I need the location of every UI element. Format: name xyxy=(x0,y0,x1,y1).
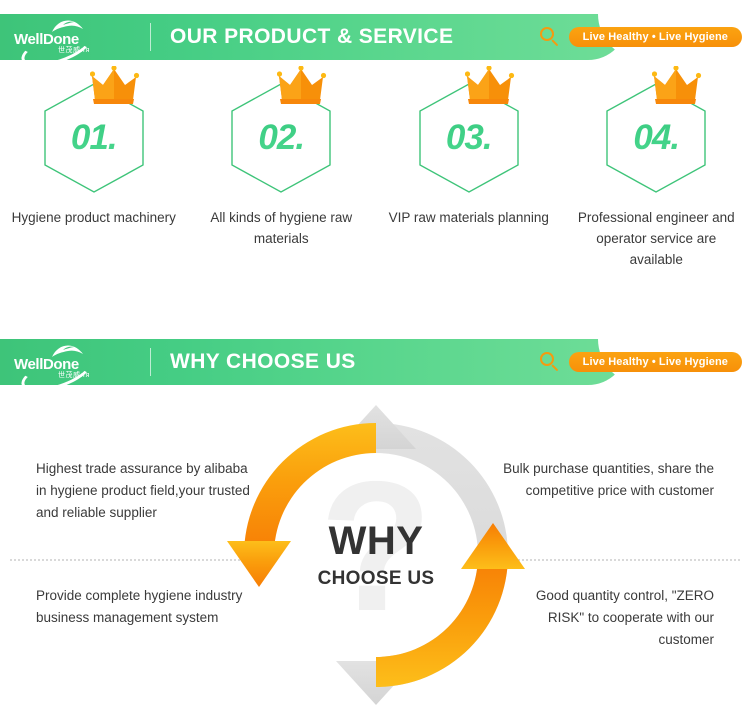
logo-wordmark-cn: 世茂威яя xyxy=(58,370,90,380)
tagline-badge-why: Live Healthy • Live Hygiene xyxy=(569,352,742,372)
why-point-top-left: Highest trade assurance by alibaba in hy… xyxy=(36,458,251,524)
circular-arrows-diagram: ? xyxy=(226,405,526,705)
feature-item: 01. Hygiene product machinery xyxy=(0,82,188,282)
section-title-why: WHY CHOOSE US xyxy=(170,339,356,385)
feature-caption: Professional engineer and operator servi… xyxy=(571,208,741,271)
why-point-bottom-right: Good quantity control, "ZERO RISK" to co… xyxy=(499,585,714,651)
feature-hexagon: 04. xyxy=(604,82,708,194)
search-icon[interactable] xyxy=(539,26,561,48)
feature-hexagon: 03. xyxy=(417,82,521,194)
search-icon-handle xyxy=(551,364,558,371)
feature-caption: VIP raw materials planning xyxy=(384,208,554,229)
section-header-why: WellDone 世茂威яя WHY CHOOSE US Live Health… xyxy=(0,339,750,385)
feature-hexagon: 02. xyxy=(229,82,333,194)
feature-item: 02. All kinds of hygiene raw materials xyxy=(188,82,376,282)
why-point-top-right: Bulk purchase quantities, share the comp… xyxy=(499,458,714,502)
section-header-product: WellDone 世茂威яя OUR PRODUCT & SERVICE Liv… xyxy=(0,14,750,60)
feature-hexagon: 01. xyxy=(42,82,146,194)
search-icon-handle xyxy=(551,39,558,46)
page-root: WellDone 世茂威яя OUR PRODUCT & SERVICE Liv… xyxy=(0,0,750,711)
crown-icon xyxy=(277,66,327,106)
crown-icon xyxy=(652,66,702,106)
logo-wordmark-cn: 世茂威яя xyxy=(58,45,90,55)
feature-caption: Hygiene product machinery xyxy=(9,208,179,229)
feature-item: 04. Professional engineer and operator s… xyxy=(563,82,750,282)
crown-icon xyxy=(465,66,515,106)
divider-left xyxy=(10,559,260,561)
section-title-product: OUR PRODUCT & SERVICE xyxy=(170,14,453,60)
header-divider xyxy=(150,348,151,376)
brand-logo: WellDone 世茂威яя xyxy=(14,19,126,57)
tagline-group-product: Live Healthy • Live Hygiene xyxy=(539,14,742,60)
question-mark-watermark: ? xyxy=(319,444,432,650)
tagline-badge-product: Live Healthy • Live Hygiene xyxy=(569,27,742,47)
brand-logo: WellDone 世茂威яя xyxy=(14,344,126,382)
why-point-bottom-left: Provide complete hygiene industry busine… xyxy=(36,585,251,629)
search-icon[interactable] xyxy=(539,351,561,373)
header-divider xyxy=(150,23,151,51)
feature-grid: 01. Hygiene product machinery 02. xyxy=(0,82,750,282)
feature-caption: All kinds of hygiene raw materials xyxy=(196,208,366,250)
crown-icon xyxy=(90,66,140,106)
tagline-group-why: Live Healthy • Live Hygiene xyxy=(539,339,742,385)
divider-right xyxy=(490,559,740,561)
feature-item: 03. VIP raw materials planning xyxy=(375,82,563,282)
